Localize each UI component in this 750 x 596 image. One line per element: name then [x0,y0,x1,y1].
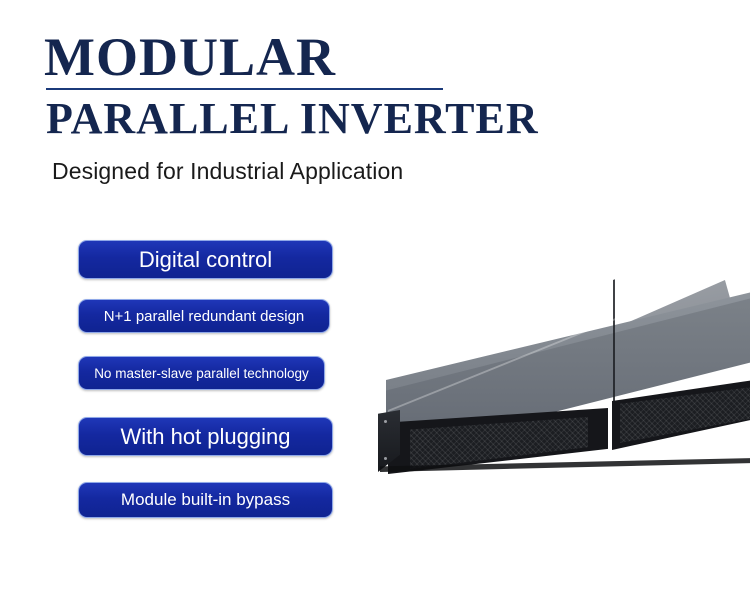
page-title-line1: MODULAR [44,28,684,86]
feature-pill-redundant-design[interactable]: N+1 parallel redundant design [78,299,330,333]
feature-list: Digital control N+1 parallel redundant d… [78,240,338,518]
spacer [78,333,338,356]
title-divider [46,88,443,90]
feature-pill-digital-control[interactable]: Digital control [78,240,333,279]
page-title-line2: PARALLEL INVERTER [46,94,684,144]
feature-pill-no-master-slave[interactable]: No master-slave parallel technology [78,356,325,390]
spacer [78,456,338,482]
feature-pill-built-in-bypass[interactable]: Module built-in bypass [78,482,333,518]
module1-rack-screw-top [384,420,387,423]
product-image [368,262,750,512]
headline-block: MODULAR PARALLEL INVERTER [44,28,684,144]
feature-pill-hot-plugging[interactable]: With hot plugging [78,417,333,456]
module1-rack-screw-bottom [384,457,387,460]
module-seam [613,279,615,410]
spacer [78,390,338,417]
promo-banner: MODULAR PARALLEL INVERTER Designed for I… [0,0,750,596]
spacer [78,279,338,299]
page-subtitle: Designed for Industrial Application [52,158,403,185]
